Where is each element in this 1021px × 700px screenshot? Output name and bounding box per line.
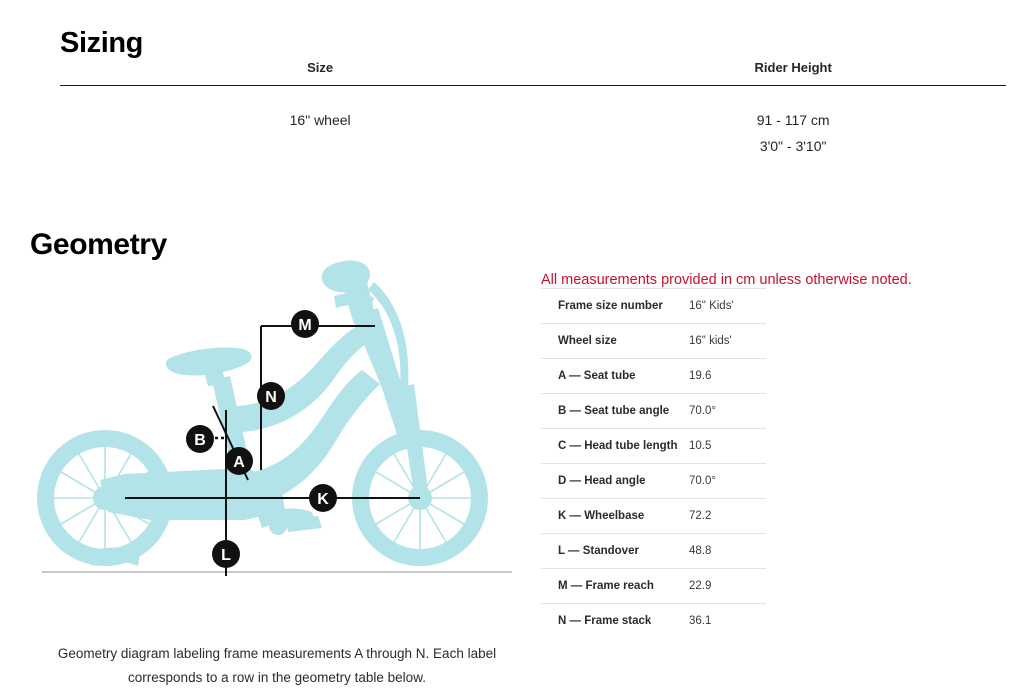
table-row: K — Wheelbase 72.2 — [541, 499, 766, 534]
geometry-row-label: C — Head tube length — [541, 429, 689, 464]
diagram-caption: Geometry diagram labeling frame measurem… — [42, 642, 512, 692]
table-row: A — Seat tube 19.6 — [541, 359, 766, 394]
geometry-row-value: 72.2 — [689, 499, 766, 534]
geometry-row-value: 70.0° — [689, 394, 766, 429]
geometry-row-value: 19.6 — [689, 359, 766, 394]
sizing-cell-size: 16" wheel — [60, 86, 580, 160]
geometry-row-label: B — Seat tube angle — [541, 394, 689, 429]
geometry-row-value: 10.5 — [689, 429, 766, 464]
geometry-diagram: M N B A K — [30, 258, 530, 598]
geometry-table: Frame size number 16" Kids' Wheel size 1… — [541, 288, 766, 638]
geometry-row-value: 22.9 — [689, 569, 766, 604]
sizing-table: Size Rider Height 16" wheel 91 - 117 cm … — [60, 60, 1006, 160]
geometry-row-label: K — Wheelbase — [541, 499, 689, 534]
table-row: B — Seat tube angle 70.0° — [541, 394, 766, 429]
geometry-row-label: N — Frame stack — [541, 604, 689, 639]
rider-height-cm: 91 - 117 cm — [580, 108, 1006, 134]
geometry-row-value: 16" Kids' — [689, 289, 766, 324]
measurement-units-note: All measurements provided in cm unless o… — [541, 272, 912, 288]
rider-height-feet: 3'0" - 3'10" — [580, 134, 1006, 160]
table-row: Wheel size 16" kids' — [541, 324, 766, 359]
table-row: D — Head angle 70.0° — [541, 464, 766, 499]
geometry-row-label: A — Seat tube — [541, 359, 689, 394]
bicycle-silhouette-icon — [37, 261, 488, 566]
svg-text:A: A — [233, 454, 245, 471]
geometry-row-label: Wheel size — [541, 324, 689, 359]
sizing-table-row: 16" wheel 91 - 117 cm 3'0" - 3'10" — [60, 86, 1006, 160]
marker-a: A — [225, 447, 253, 475]
geometry-row-label: L — Standover — [541, 534, 689, 569]
table-row: L — Standover 48.8 — [541, 534, 766, 569]
geometry-row-label: M — Frame reach — [541, 569, 689, 604]
sizing-column-header-rider-height: Rider Height — [580, 60, 1006, 86]
svg-text:L: L — [221, 547, 231, 564]
sizing-cell-rider-height: 91 - 117 cm 3'0" - 3'10" — [580, 86, 1006, 160]
marker-n: N — [257, 382, 285, 410]
geometry-row-label: Frame size number — [541, 289, 689, 324]
table-row: Frame size number 16" Kids' — [541, 289, 766, 324]
table-row: M — Frame reach 22.9 — [541, 569, 766, 604]
sizing-heading: Sizing — [60, 27, 143, 60]
product-sizing-geometry-page: Sizing Size Rider Height 16" wheel 91 - … — [0, 0, 1021, 700]
marker-b: B — [186, 425, 214, 453]
geometry-row-value: 48.8 — [689, 534, 766, 569]
geometry-row-label: D — Head angle — [541, 464, 689, 499]
svg-text:N: N — [265, 389, 277, 406]
marker-k: K — [309, 484, 337, 512]
geometry-row-value: 70.0° — [689, 464, 766, 499]
table-row: N — Frame stack 36.1 — [541, 604, 766, 639]
geometry-row-value: 16" kids' — [689, 324, 766, 359]
svg-text:K: K — [317, 491, 329, 508]
sizing-table-header-row: Size Rider Height — [60, 60, 1006, 86]
sizing-column-header-size: Size — [60, 60, 580, 86]
table-row: C — Head tube length 10.5 — [541, 429, 766, 464]
geometry-table-body: Frame size number 16" Kids' Wheel size 1… — [541, 289, 766, 639]
geometry-row-value: 36.1 — [689, 604, 766, 639]
marker-m: M — [291, 310, 319, 338]
svg-text:M: M — [298, 317, 311, 334]
marker-l: L — [212, 540, 240, 568]
geometry-heading: Geometry — [30, 228, 167, 262]
svg-text:B: B — [194, 432, 206, 449]
